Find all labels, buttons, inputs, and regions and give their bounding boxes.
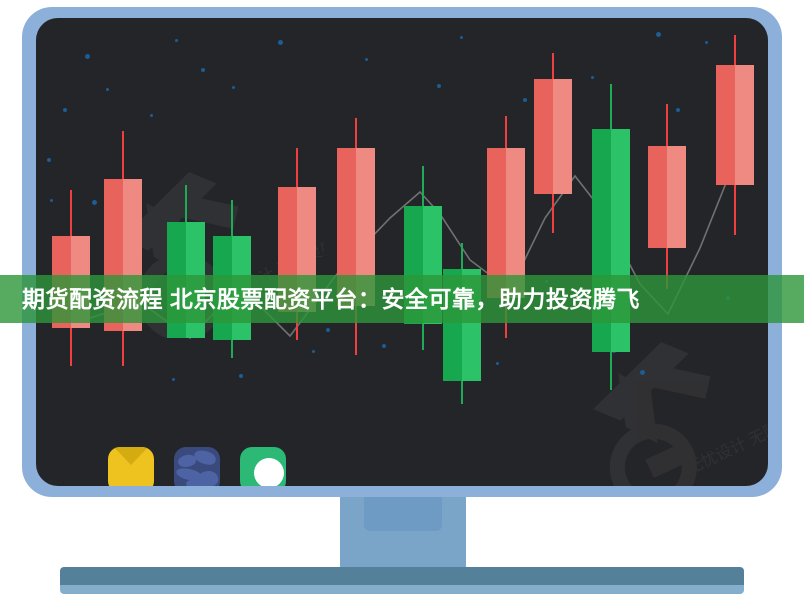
monitor-stand-base-lip	[60, 585, 744, 594]
promo-banner: 期货配资流程 北京股票配资平台：安全可靠，助力投资腾飞	[0, 275, 804, 323]
app-icon[interactable]	[240, 447, 286, 486]
dock	[108, 447, 286, 486]
globe-land	[193, 449, 217, 466]
candlestick-2	[104, 131, 142, 366]
candlestick-8	[443, 243, 481, 404]
candle-body	[648, 146, 686, 248]
candlestick-13	[716, 35, 754, 235]
candlestick-12	[648, 104, 686, 289]
candlestick-11	[592, 84, 630, 390]
app-icon-inner	[254, 458, 284, 486]
screenshot-root: 无忧设计 无限灵感 无忧设计 无限灵感	[0, 0, 804, 604]
mail-flap	[108, 447, 154, 486]
candle-body	[716, 65, 754, 185]
candlestick-chart	[36, 18, 768, 486]
candle-body	[534, 79, 572, 194]
monitor-screen: 无忧设计 无限灵感 无忧设计 无限灵感	[36, 18, 768, 486]
monitor-stand-neck	[340, 495, 466, 573]
candlestick-10	[534, 53, 572, 233]
promo-banner-text: 期货配资流程 北京股票配资平台：安全可靠，助力投资腾飞	[22, 275, 640, 323]
monitor-stand-neck-inner	[364, 495, 442, 531]
mail-icon[interactable]	[108, 447, 154, 486]
globe-icon[interactable]	[174, 447, 220, 486]
